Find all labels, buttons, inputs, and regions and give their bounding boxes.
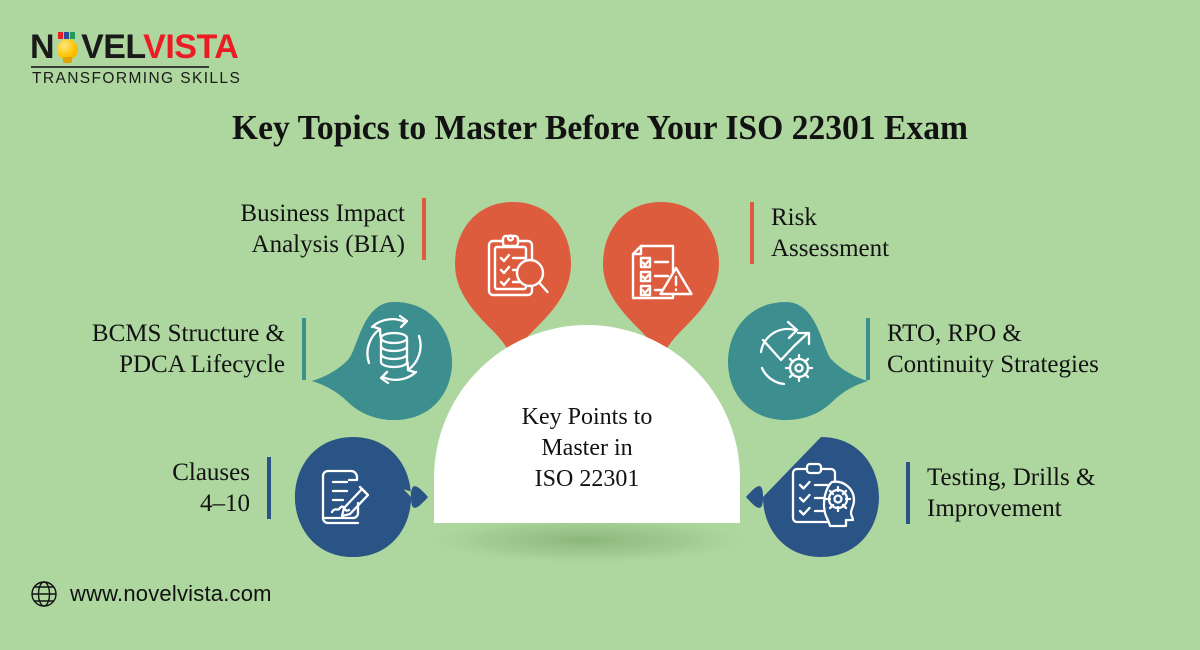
center-label: Key Points to Master in ISO 22301 xyxy=(437,402,737,495)
label-bia: Business Impact Analysis (BIA) xyxy=(150,198,426,260)
center-line-1: Key Points to xyxy=(437,402,737,433)
globe-icon xyxy=(30,580,58,608)
label-bcms: BCMS Structure & PDCA Lifecycle xyxy=(30,318,306,380)
infographic-canvas: N VELVISTA TRANSFORMING SKILLS Key Topic… xyxy=(0,0,1200,650)
node-pin-testing[interactable] xyxy=(746,437,879,557)
node-pin-clauses[interactable] xyxy=(295,437,428,557)
node-pin-rto[interactable] xyxy=(728,302,868,420)
footer: www.novelvista.com xyxy=(30,580,272,608)
label-clauses: Clauses 4–10 xyxy=(70,457,271,519)
label-risk: Risk Assessment xyxy=(750,202,1031,264)
node-pin-bcms[interactable] xyxy=(312,302,452,420)
website-url[interactable]: www.novelvista.com xyxy=(70,581,272,607)
center-line-3: ISO 22301 xyxy=(437,464,737,495)
label-testing: Testing, Drills & Improvement xyxy=(906,462,1197,524)
center-line-2: Master in xyxy=(437,433,737,464)
label-rto: RTO, RPO & Continuity Strategies xyxy=(866,318,1187,380)
